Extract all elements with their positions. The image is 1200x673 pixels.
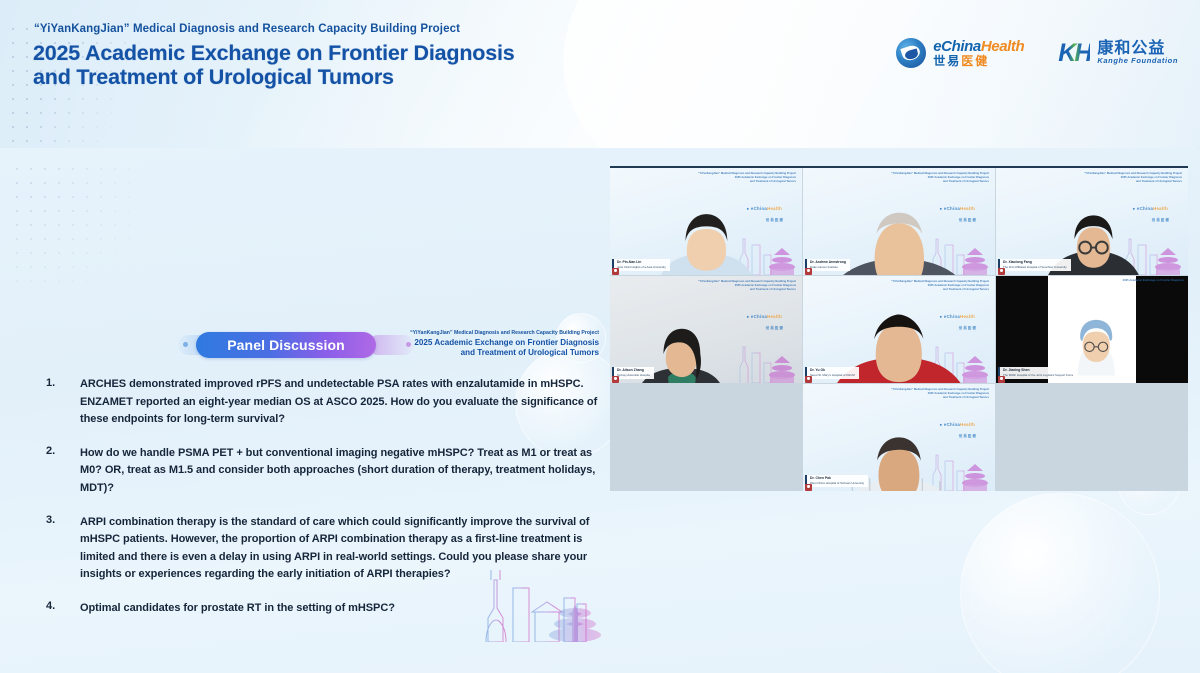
echinahealth-mark-icon [896,38,926,68]
discussion-question-item: 2.How do we handle PSMA PET + but conven… [46,445,601,498]
question-number: 4. [46,600,80,618]
page-title-line-2: and Treatment of Urological Tumors [33,65,514,89]
question-number: 2. [46,445,80,498]
echinahealth-logo: eChinaHealth 世易医健 [896,38,1024,68]
tile-watermark-logo-cn: 世易医健 [1152,218,1170,223]
microphone-muted-icon[interactable] [612,268,619,275]
badge-dot-left-icon [183,342,188,347]
tile-watermark-logo: ● eChinaHealth [747,314,782,319]
question-text: How do we handle PSMA PET + but conventi… [80,445,601,498]
microphone-muted-icon[interactable] [805,484,812,491]
participant-name-badge: Dr. Pin-Nan LinJoint Viral Insights of a… [612,259,670,271]
bubble-decoration [960,493,1160,673]
discussion-question-item: 4.Optimal candidates for prostate RT in … [46,600,601,618]
kanghe-cn-text: 康和公益 [1097,41,1178,57]
video-tile-participant[interactable]: “YiYanKangJian” Medical Diagnosis and Re… [803,384,995,491]
participant-affiliation: Joint Viral Insights of a Asia Universit… [617,265,666,269]
panel-discussion-badge: Panel Discussion [196,332,376,358]
microphone-muted-icon[interactable] [998,268,1005,275]
echinahealth-en-text: eChinaHealth [933,39,1024,55]
participant-name-badge: Dr. Xiaolong FangThe First Affiliated Ho… [998,259,1071,271]
kanghe-mark-icon: KH [1058,41,1090,66]
slide-header: “YiYanKangJian” Medical Diagnosis and Re… [0,0,1200,148]
discussion-question-item: 3.ARPI combination therapy is the standa… [46,514,601,584]
participant-name-badge: Dr. Jianing ShenThe 900th Hospital of th… [998,367,1077,379]
tile-watermark-text: “YiYanKangJian” Medical Diagnosis and Re… [698,280,796,293]
video-tile-participant[interactable]: “YiYanKangJian” Medical Diagnosis and Re… [610,168,802,275]
page-title: 2025 Academic Exchange on Frontier Diagn… [33,41,514,89]
presentation-stage: “YiYanKangJian” Medical Diagnosis and Re… [0,0,1200,673]
tile-watermark-text: 2025 Academic Exchange on Frontier Diagn… [1123,279,1184,283]
microphone-muted-icon[interactable] [612,376,619,383]
participant-affiliation: Duke Cancer Institute [810,265,846,269]
participant-name-badge: Dr. Chen PakWest China Hospital of Sichu… [805,475,868,487]
echinahealth-cn-text: 世易医健 [933,55,1024,68]
question-number: 1. [46,376,80,429]
content-dot-pattern [10,162,150,292]
kanghe-en-text: Kanghe Foundation [1097,57,1178,65]
video-tile-participant[interactable]: “YiYanKangJian” Medical Diagnosis and Re… [610,276,802,383]
tile-watermark-text: “YiYanKangJian” Medical Diagnosis and Re… [891,388,989,401]
slide-corner-branding: “YiYanKangJian” Medical Diagnosis and Re… [409,330,599,359]
microphone-muted-icon[interactable] [805,376,812,383]
page-title-line-1: 2025 Academic Exchange on Frontier Diagn… [33,41,514,65]
participant-name-badge: Dr. Yu OkSeoul St. Mary’s Hospital of KH… [805,367,859,379]
video-tile-empty [610,384,802,491]
tile-watermark-logo-cn: 世易医健 [766,218,784,223]
logo-group: eChinaHealth 世易医健 KH 康和公益 Kanghe Foundat… [896,38,1178,68]
video-tile-empty [996,384,1188,491]
tile-watermark-text: “YiYanKangJian” Medical Diagnosis and Re… [891,280,989,293]
question-number: 3. [46,514,80,584]
echinahealth-wordmark: eChinaHealth 世易医健 [933,39,1024,67]
microphone-muted-icon[interactable] [998,376,1005,383]
question-text: ARPI combination therapy is the standard… [80,514,601,584]
video-conference-grid[interactable]: “YiYanKangJian” Medical Diagnosis and Re… [610,166,1188,491]
header-kicker: “YiYanKangJian” Medical Diagnosis and Re… [34,23,460,35]
video-tile-participant[interactable]: “YiYanKangJian” Medical Diagnosis and Re… [996,168,1188,275]
panel-discussion-badge-label: Panel Discussion [227,337,345,353]
tile-skyline-icon [734,341,796,383]
participant-affiliation: Seoul St. Mary’s Hospital of KHCM [810,373,855,377]
discussion-question-item: 1.ARCHES demonstrated improved rPFS and … [46,376,601,429]
slide-corner-title-line-1: 2025 Academic Exchange on Frontier Diagn… [409,338,599,349]
slide-corner-title-line-2: and Treatment of Urological Tumors [409,348,599,359]
slide-corner-kicker: “YiYanKangJian” Medical Diagnosis and Re… [409,330,599,338]
tile-watermark-logo-cn: 世易医健 [766,326,784,331]
microphone-muted-icon[interactable] [805,268,812,275]
video-tile-participant[interactable]: “YiYanKangJian” Medical Diagnosis and Re… [803,168,995,275]
participant-affiliation: Sydney Adventist Hospital [617,373,650,377]
video-tile-participant[interactable]: “YiYanKangJian” Medical Diagnosis and Re… [803,276,995,383]
tile-watermark-text: “YiYanKangJian” Medical Diagnosis and Re… [698,172,796,185]
kanghe-foundation-logo: KH 康和公益 Kanghe Foundation [1058,41,1178,66]
tile-watermark-text: “YiYanKangJian” Medical Diagnosis and Re… [1084,172,1182,185]
participant-affiliation: The 900th Hospital of the Joint Logistic… [1003,373,1073,377]
kanghe-wordmark: 康和公益 Kanghe Foundation [1097,41,1178,65]
question-text: ARCHES demonstrated improved rPFS and un… [80,376,601,429]
participant-affiliation: The First Affiliated Hospital of Soochow… [1003,265,1067,269]
participant-affiliation: West China Hospital of Sichuan Universit… [810,481,864,485]
discussion-question-list: 1.ARCHES demonstrated improved rPFS and … [46,376,601,634]
question-text: Optimal candidates for prostate RT in th… [80,600,395,618]
panel-discussion-header: Panel Discussion “YiYanKangJian” Medical… [178,330,598,360]
video-tile-participant[interactable]: 2025 Academic Exchange on Frontier Diagn… [996,276,1188,383]
